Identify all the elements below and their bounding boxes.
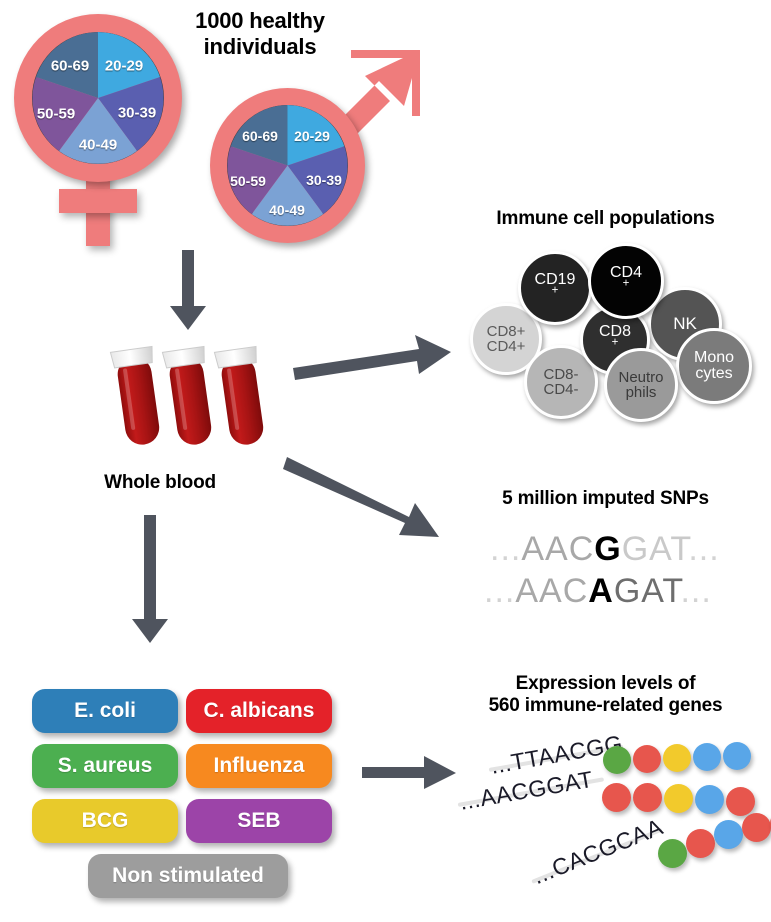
female-pie-label-30-39: 30-39 bbox=[118, 105, 156, 122]
cell-cd4p-label: CD4+ bbox=[610, 265, 642, 298]
expression-strand-3-bead-2 bbox=[686, 829, 715, 858]
snp-leading-dots-2: ... bbox=[484, 572, 515, 610]
expression-strand-3-sequence: ...CACGCAA bbox=[529, 813, 667, 890]
cell-neutrophils-line-2: phils bbox=[618, 385, 663, 400]
male-symbol: 20-29 30-39 40-49 50-59 60-69 bbox=[210, 44, 425, 244]
arrow-blood-to-stimulation bbox=[130, 515, 170, 645]
cell-cd8n-cd4n-line-1: CD8- bbox=[543, 367, 578, 382]
snp-variant-2: A bbox=[588, 572, 614, 610]
expression-strand-2-bead-2 bbox=[633, 783, 662, 812]
cell-cd8p-cd4p-line-2: CD4+ bbox=[487, 339, 526, 354]
snp-leading-dots-1: ... bbox=[490, 530, 521, 568]
expression-strand-1-bead-1 bbox=[603, 746, 631, 774]
expression-section-title-line-2: 560 immune-related genes bbox=[440, 695, 771, 717]
blood-tube-1 bbox=[110, 346, 165, 447]
snp-suffix-1: GAT bbox=[622, 530, 689, 568]
stimulation-non-stimulated[interactable]: Non stimulated bbox=[88, 854, 288, 898]
cell-cd4p: CD4+ bbox=[588, 243, 664, 319]
expression-strand-1-bead-3 bbox=[663, 744, 691, 772]
stimulation-seb[interactable]: SEB bbox=[186, 799, 332, 843]
immune-section-title: Immune cell populations bbox=[440, 208, 771, 230]
blood-tube-3 bbox=[214, 346, 269, 447]
cell-monocytes-line-1: Mono bbox=[694, 350, 734, 366]
snp-prefix-2: AAC bbox=[515, 572, 588, 610]
stimulation-c-albicans-label: C. albicans bbox=[204, 699, 315, 723]
expression-strand-2-bead-5 bbox=[726, 787, 755, 816]
snp-trailing-dots-2: ... bbox=[680, 572, 711, 610]
blood-tube-2 bbox=[162, 346, 217, 447]
stimulation-s-aureus-label: S. aureus bbox=[58, 754, 153, 778]
male-pie-label-30-39: 30-39 bbox=[306, 172, 342, 188]
male-pie-label-50-59: 50-59 bbox=[230, 173, 266, 189]
cell-cd8n-cd4n-line-2: CD4- bbox=[543, 382, 578, 397]
arrow-blood-to-snp bbox=[287, 455, 447, 545]
expression-section-title-line-1: Expression levels of bbox=[440, 673, 771, 695]
stimulation-seb-label: SEB bbox=[237, 809, 280, 833]
female-symbol: 20-29 30-39 40-49 50-59 60-69 bbox=[14, 14, 204, 254]
cell-monocytes: Mono cytes bbox=[676, 328, 752, 404]
expression-strand-3: ...CACGCAA bbox=[530, 818, 771, 898]
female-pie-label-50-59: 50-59 bbox=[37, 106, 75, 123]
expression-strand-1-bead-5 bbox=[723, 742, 751, 770]
female-symbol-stem-horizontal bbox=[59, 189, 137, 213]
female-pie-label-40-49: 40-49 bbox=[79, 137, 117, 154]
stimulation-influenza-label: Influenza bbox=[213, 754, 304, 778]
expression-strand-3-bead-4 bbox=[742, 813, 771, 842]
stimulation-bcg-label: BCG bbox=[82, 809, 129, 833]
cell-neutrophils-line-1: Neutro bbox=[618, 370, 663, 385]
whole-blood-label: Whole blood bbox=[60, 472, 260, 494]
expression-strand-3-bead-1 bbox=[658, 839, 687, 868]
expression-strand-2-bead-4 bbox=[695, 785, 724, 814]
stimulation-e-coli[interactable]: E. coli bbox=[32, 689, 178, 733]
cell-cd19p-label: CD19+ bbox=[535, 272, 576, 305]
male-pie-label-40-49: 40-49 bbox=[269, 202, 305, 218]
arrow-blood-to-immune bbox=[293, 330, 453, 380]
snp-variant-1: G bbox=[594, 530, 621, 568]
expression-strand-3-bead-3 bbox=[714, 820, 743, 849]
snp-sequence-row-1: ...AACGGAT... bbox=[490, 530, 720, 569]
snp-sequence-row-2: ...AACAGAT... bbox=[484, 572, 712, 611]
snp-section-title: 5 million imputed SNPs bbox=[440, 488, 771, 510]
cell-monocytes-line-2: cytes bbox=[694, 366, 734, 382]
cell-cd8p-cd4p-line-1: CD8+ bbox=[487, 324, 526, 339]
female-pie-label-60-69: 60-69 bbox=[51, 58, 89, 75]
expression-strand-1-bead-2 bbox=[633, 745, 661, 773]
stimulation-e-coli-label: E. coli bbox=[74, 699, 136, 723]
stimulation-influenza[interactable]: Influenza bbox=[186, 744, 332, 788]
expression-strand-1-bead-4 bbox=[693, 743, 721, 771]
expression-strand-2-bead-3 bbox=[664, 784, 693, 813]
expression-strand-2-bead-1 bbox=[602, 783, 631, 812]
stimulation-c-albicans[interactable]: C. albicans bbox=[186, 689, 332, 733]
stimulation-bcg[interactable]: BCG bbox=[32, 799, 178, 843]
male-pie-label-60-69: 60-69 bbox=[242, 128, 278, 144]
cell-neutrophils: Neutro phils bbox=[604, 348, 678, 422]
arrow-cohort-to-blood bbox=[168, 250, 208, 332]
expression-section-title: Expression levels of 560 immune-related … bbox=[440, 673, 771, 718]
cell-cd19p: CD19+ bbox=[518, 251, 592, 325]
figure-canvas: 1000 healthy individuals 20-29 30-39 40-… bbox=[0, 0, 771, 922]
blood-tubes bbox=[108, 335, 278, 470]
female-pie-label-20-29: 20-29 bbox=[105, 58, 143, 75]
arrow-stimulation-to-expression bbox=[362, 756, 458, 790]
snp-trailing-dots-1: ... bbox=[688, 530, 719, 568]
cell-nk-label: NK bbox=[673, 315, 697, 332]
snp-prefix-1: AAC bbox=[521, 530, 594, 568]
immune-cell-cluster: CD8+ CD4+ CD19+ CD4+ NK CD8+ bbox=[470, 243, 771, 408]
male-pie-label-20-29: 20-29 bbox=[294, 128, 330, 144]
snp-suffix-2: GAT bbox=[614, 572, 681, 610]
stimulation-s-aureus[interactable]: S. aureus bbox=[32, 744, 178, 788]
stimulation-non-stimulated-label: Non stimulated bbox=[112, 864, 264, 888]
